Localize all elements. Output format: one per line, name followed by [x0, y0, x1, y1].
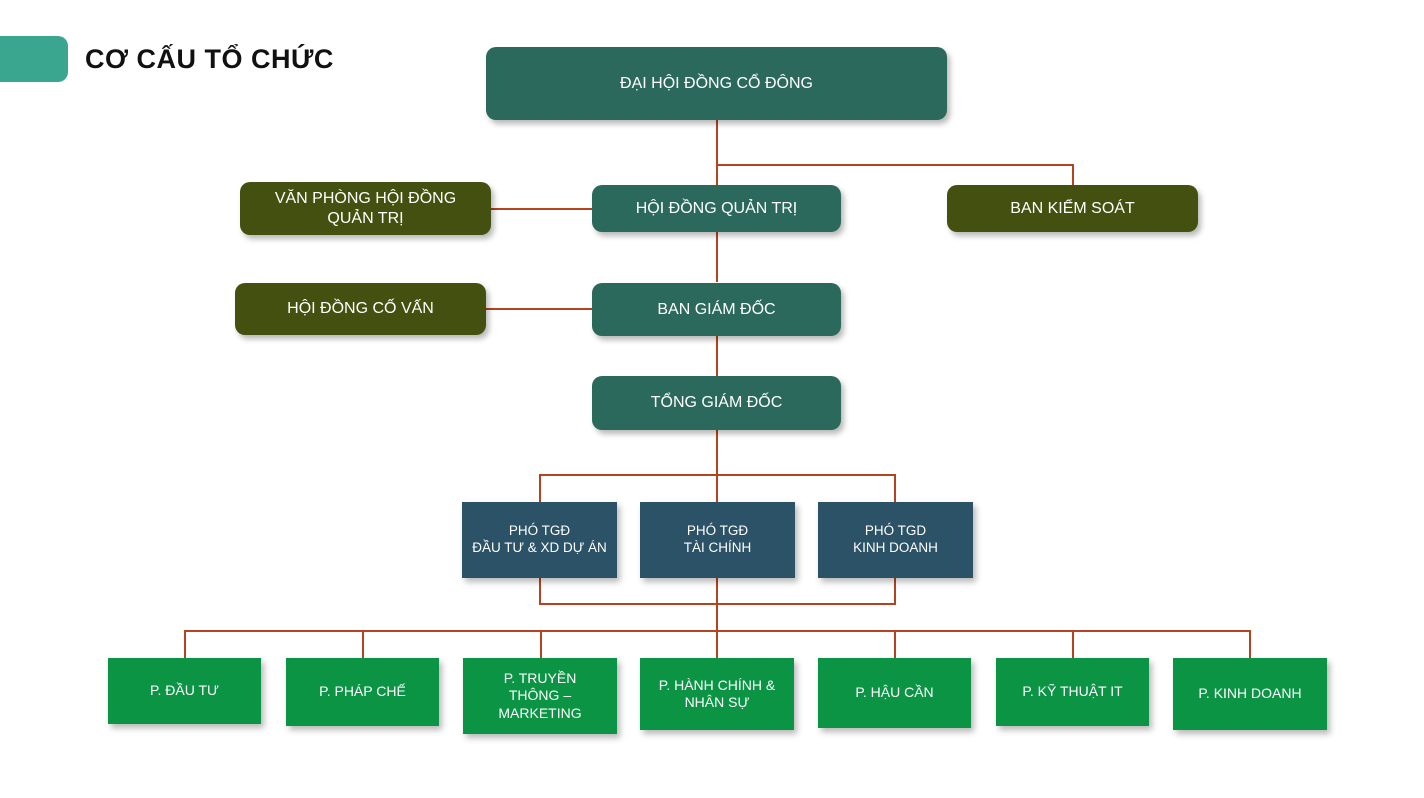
connector-to-dept-hr: [716, 630, 718, 658]
node-dept-legal-label: P. PHÁP CHẾ: [294, 683, 431, 701]
node-general-director[interactable]: TỔNG GIÁM ĐỐC: [592, 376, 841, 430]
node-dept-marketing-line3: MARKETING: [471, 705, 609, 723]
node-board-office[interactable]: VĂN PHÒNG HỘI ĐỒNG QUẢN TRỊ: [240, 182, 491, 235]
node-dept-sales-label: P. KINH DOANH: [1181, 685, 1319, 703]
node-advisory-board-label: HỘI ĐỒNG CỐ VẤN: [243, 299, 478, 319]
node-supervisory-board[interactable]: BAN KIỂM SOÁT: [947, 185, 1198, 232]
connector-shareholders-down: [716, 120, 718, 166]
node-dept-marketing-line2: THÔNG –: [471, 687, 609, 705]
node-deputy-business-line1: PHÓ TGD: [826, 523, 965, 540]
node-dept-logistics[interactable]: P. HẬU CẦN: [818, 658, 971, 728]
node-board-of-management-label: HỘI ĐỒNG QUẢN TRỊ: [600, 199, 833, 219]
node-shareholders[interactable]: ĐẠI HỘI ĐỒNG CỔ ĐÔNG: [486, 47, 947, 120]
node-deputy-finance[interactable]: PHÓ TGĐ TÀI CHÍNH: [640, 502, 795, 578]
connector-deputy-business-down: [894, 578, 896, 605]
title-accent-bar: [0, 36, 68, 82]
connector-gd-down: [716, 430, 718, 476]
connector-executive-to-gd: [716, 336, 718, 376]
connector-to-dept-investment: [184, 630, 186, 658]
node-dept-it-label: P. KỸ THUẬT IT: [1004, 683, 1141, 701]
connector-to-dept-sales: [1249, 630, 1251, 658]
node-board-office-line2: QUẢN TRỊ: [248, 209, 483, 229]
connector-merge-to-departments: [716, 578, 718, 632]
connector-to-dept-legal: [362, 630, 364, 658]
node-dept-investment-label: P. ĐẦU TƯ: [116, 682, 253, 700]
node-deputy-business-line2: KINH DOANH: [826, 540, 965, 557]
node-dept-hr-line1: P. HÀNH CHÍNH &: [648, 677, 786, 695]
connector-to-dept-marketing: [540, 630, 542, 658]
node-dept-it[interactable]: P. KỸ THUẬT IT: [996, 658, 1149, 726]
node-shareholders-label: ĐẠI HỘI ĐỒNG CỔ ĐÔNG: [494, 74, 939, 94]
node-dept-marketing[interactable]: P. TRUYỀN THÔNG – MARKETING: [463, 658, 617, 734]
connector-to-dept-it: [1072, 630, 1074, 658]
connector-advisory-board: [485, 308, 592, 310]
connector-bus-level1: [716, 164, 1074, 166]
node-deputy-investment-line1: PHÓ TGĐ: [470, 523, 609, 540]
connector-deputy-investment-down: [539, 578, 541, 605]
node-executive-board-label: BAN GIÁM ĐỐC: [600, 300, 833, 320]
node-general-director-label: TỔNG GIÁM ĐỐC: [600, 393, 833, 413]
node-deputy-investment[interactable]: PHÓ TGĐ ĐẦU TƯ & XD DỰ ÁN: [462, 502, 617, 578]
node-deputy-finance-line1: PHÓ TGĐ: [648, 523, 787, 540]
node-dept-marketing-line1: P. TRUYỀN: [471, 670, 609, 688]
connector-to-deputy-investment: [539, 474, 541, 502]
node-advisory-board[interactable]: HỘI ĐỒNG CỐ VẤN: [235, 283, 486, 335]
connector-to-deputy-business: [894, 474, 896, 502]
connector-board-office: [489, 208, 592, 210]
page-title: CƠ CẤU TỔ CHỨC: [85, 44, 334, 75]
node-deputy-finance-line2: TÀI CHÍNH: [648, 540, 787, 557]
node-dept-legal[interactable]: P. PHÁP CHẾ: [286, 658, 439, 726]
connector-to-dept-logistics: [894, 630, 896, 658]
connector-to-deputy-finance: [716, 474, 718, 502]
node-executive-board[interactable]: BAN GIÁM ĐỐC: [592, 283, 841, 336]
connector-to-board-of-management: [716, 164, 718, 185]
node-dept-hr-line2: NHÂN SỰ: [648, 694, 786, 712]
node-dept-hr[interactable]: P. HÀNH CHÍNH & NHÂN SỰ: [640, 658, 794, 730]
node-supervisory-board-label: BAN KIỂM SOÁT: [955, 199, 1190, 219]
connector-to-supervisory-board: [1072, 164, 1074, 185]
node-board-office-line1: VĂN PHÒNG HỘI ĐỒNG: [248, 189, 483, 209]
node-dept-sales[interactable]: P. KINH DOANH: [1173, 658, 1327, 730]
node-dept-investment[interactable]: P. ĐẦU TƯ: [108, 658, 261, 724]
node-board-of-management[interactable]: HỘI ĐỒNG QUẢN TRỊ: [592, 185, 841, 232]
connector-bom-to-executive: [716, 231, 718, 282]
node-deputy-business[interactable]: PHÓ TGD KINH DOANH: [818, 502, 973, 578]
node-dept-logistics-label: P. HẬU CẦN: [826, 684, 963, 702]
node-deputy-investment-line2: ĐẦU TƯ & XD DỰ ÁN: [470, 540, 609, 557]
